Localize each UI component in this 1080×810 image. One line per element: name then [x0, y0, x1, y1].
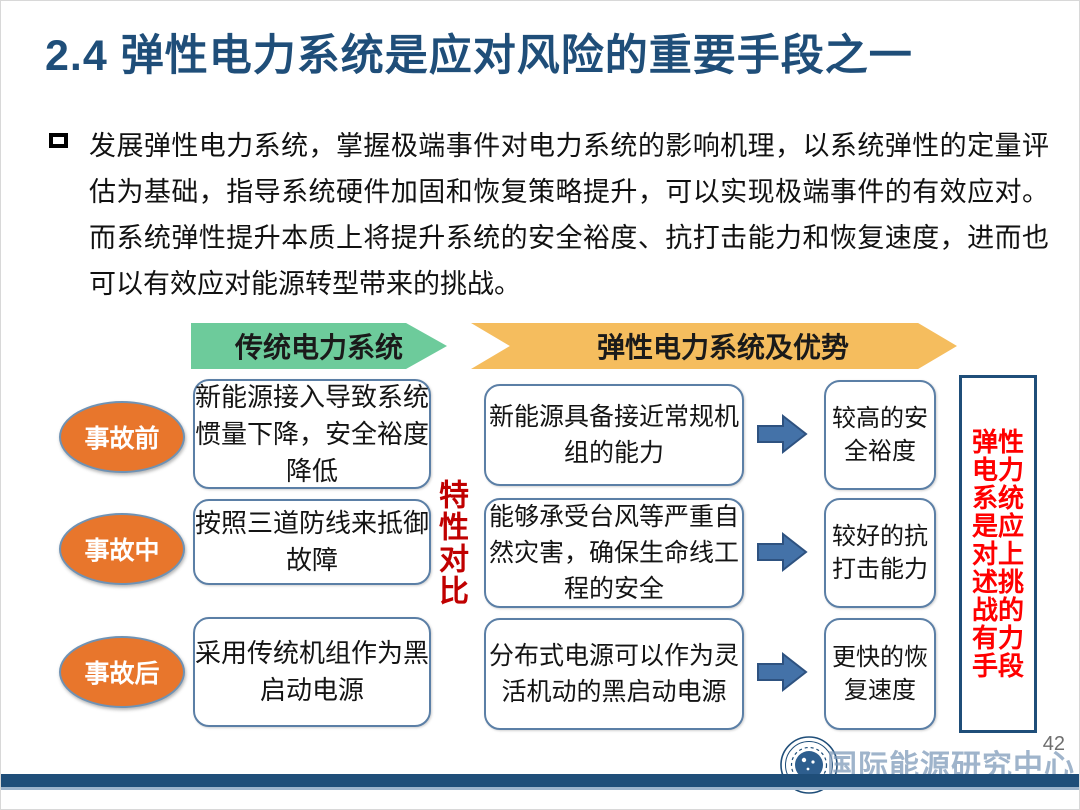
page-number: 42 — [1043, 733, 1065, 756]
advantage-box-text: 较高的安全裕度 — [826, 402, 934, 468]
advantage-box: 更快的恢复速度 — [824, 618, 936, 730]
stage-ellipse-during-accident: 事故中 — [59, 513, 185, 585]
advantage-box: 较高的安全裕度 — [824, 380, 936, 490]
advantage-box: 较好的抗打击能力 — [824, 498, 936, 608]
stage-label: 事故后 — [84, 654, 159, 690]
banner-resilient-label: 弹性电力系统及优势 — [597, 326, 849, 366]
advantage-box-text: 更快的恢复速度 — [826, 641, 934, 707]
advantage-box-text: 较好的抗打击能力 — [826, 520, 934, 586]
footer-logo: 国际能源研究中心 XI'AN JIAOTONG UNIVERSITY — [771, 729, 1071, 801]
resilient-box-text: 能够承受台风等严重自然灾害，确保生命线工程的安全 — [486, 499, 742, 607]
banner-traditional-label: 传统电力系统 — [235, 326, 403, 366]
right-arrow-icon — [756, 531, 808, 573]
page-title: 2.4 弹性电力系统是应对风险的重要手段之一 — [45, 25, 1055, 87]
traditional-box-text: 按照三道防线来抵御故障 — [195, 505, 429, 579]
traditional-box: 按照三道防线来抵御故障 — [193, 499, 431, 585]
footer-bar-accent — [1, 787, 1080, 790]
conclusion-box: 弹性电力系统是应对上述挑战的有力手段 — [959, 375, 1037, 733]
resilient-box: 能够承受台风等严重自然灾害，确保生命线工程的安全 — [484, 498, 744, 608]
traditional-box-text: 新能源接入导致系统惯量下降，安全裕度降低 — [195, 379, 429, 490]
stage-ellipse-before-accident: 事故前 — [59, 401, 185, 473]
bullet-paragraph: 发展弹性电力系统，掌握极端事件对电力系统的影响机理，以系统弹性的定量评估为基础，… — [89, 123, 1049, 307]
footer-bar — [1, 774, 1080, 787]
slide-canvas: 2.4 弹性电力系统是应对风险的重要手段之一 发展弹性电力系统，掌握极端事件对电… — [0, 0, 1080, 810]
resilient-box: 分布式电源可以作为灵活机动的黑启动电源 — [484, 618, 744, 730]
stage-ellipse-after-accident: 事故后 — [59, 636, 185, 708]
compare-label: 特性对比 — [434, 479, 468, 607]
traditional-box: 新能源接入导致系统惯量下降，安全裕度降低 — [193, 379, 431, 489]
conclusion-text: 弹性电力系统是应对上述挑战的有力手段 — [968, 428, 1028, 680]
traditional-box: 采用传统机组作为黑启动电源 — [193, 617, 431, 727]
hollow-square-bullet-icon — [49, 133, 68, 148]
traditional-box-text: 采用传统机组作为黑启动电源 — [195, 635, 429, 709]
banner-resilient-system: 弹性电力系统及优势 — [471, 323, 957, 369]
resilient-box-text: 分布式电源可以作为灵活机动的黑启动电源 — [486, 638, 742, 710]
right-arrow-icon — [756, 413, 808, 455]
resilient-box: 新能源具备接近常规机组的能力 — [484, 384, 744, 486]
right-arrow-icon — [756, 651, 808, 693]
bullet-block: 发展弹性电力系统，掌握极端事件对电力系统的影响机理，以系统弹性的定量评估为基础，… — [49, 123, 1049, 307]
stage-label: 事故中 — [84, 531, 159, 567]
banner-traditional-system: 传统电力系统 — [191, 323, 447, 369]
resilient-box-text: 新能源具备接近常规机组的能力 — [486, 399, 742, 471]
stage-label: 事故前 — [84, 419, 159, 455]
